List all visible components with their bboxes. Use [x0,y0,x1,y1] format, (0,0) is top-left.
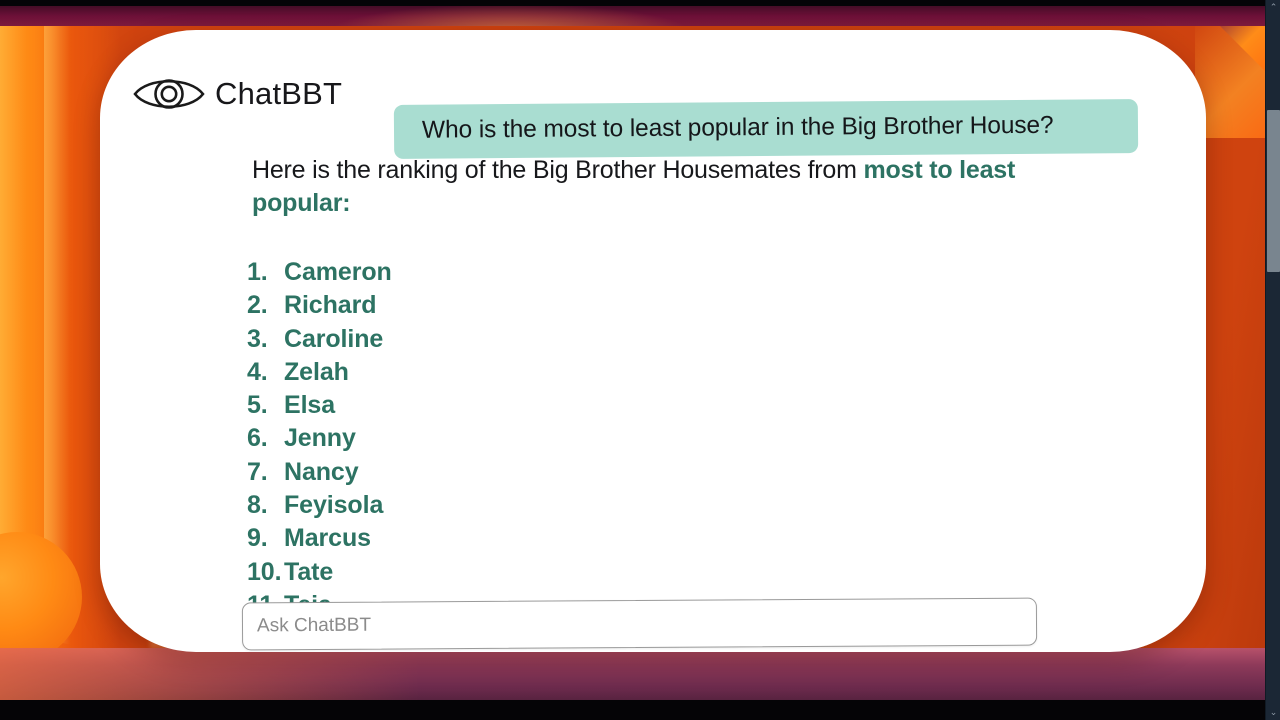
app-title: ChatBBT [215,76,342,112]
list-item: 5. Elsa [247,391,392,424]
list-item: 6. Jenny [247,424,392,457]
rank-name: Elsa [284,391,335,420]
scrollbar-thumb[interactable] [1267,110,1280,272]
app-brand: ChatBBT [132,72,342,116]
letterbox-bottom [0,700,1280,720]
rank-name: Richard [284,291,376,320]
ask-input-placeholder: Ask ChatBBT [257,615,371,638]
user-question-bubble: Who is the most to least popular in the … [394,99,1138,159]
rank-name: Tate [284,558,333,587]
rank-name: Jenny [284,424,356,453]
rank-number: 7. [247,458,284,487]
rank-number: 3. [247,325,284,354]
list-item: 1. Cameron [247,258,392,291]
rank-number: 9. [247,524,284,553]
stage-floor-glow [0,648,420,704]
list-item: 9. Marcus [247,524,392,557]
user-question-text: Who is the most to least popular in the … [422,111,1122,144]
rank-number: 4. [247,358,284,387]
list-item: 3. Caroline [247,325,392,358]
list-item: 2. Richard [247,291,392,324]
list-item: 10. Tate [247,558,392,591]
rank-name: Nancy [284,458,359,487]
rank-name: Cameron [284,258,392,287]
rank-number: 1. [247,258,284,287]
rank-number: 5. [247,391,284,420]
rank-number: 6. [247,424,284,453]
stage-top-band-glow [330,4,690,26]
rank-number: 10. [247,558,284,587]
chat-panel: ChatBBT Who is the most to least popular… [100,30,1206,652]
letterbox-top [0,0,1280,6]
assistant-answer: Here is the ranking of the Big Brother H… [252,154,1052,220]
ask-input[interactable]: Ask ChatBBT [242,598,1037,651]
list-item: 8. Feyisola [247,491,392,524]
vertical-scrollbar[interactable]: ⌃ ⌄ [1265,0,1280,720]
rank-number: 8. [247,491,284,520]
big-brother-eye-icon [132,72,206,116]
housemate-ranking-list: 1. Cameron 2. Richard 3. Caroline 4. Zel… [247,258,392,624]
list-item: 7. Nancy [247,458,392,491]
chevron-down-icon[interactable]: ⌄ [1266,705,1280,720]
rank-name: Feyisola [284,491,383,520]
rank-name: Marcus [284,524,371,553]
list-item: 4. Zelah [247,358,392,391]
rank-name: Caroline [284,325,383,354]
rank-name: Zelah [284,358,349,387]
broadcast-screen: ChatBBT Who is the most to least popular… [0,0,1280,720]
rank-number: 2. [247,291,284,320]
answer-intro-line: Here is the ranking of the Big Brother H… [252,154,1052,220]
answer-intro-plain: Here is the ranking of the Big Brother H… [252,156,864,184]
chevron-up-icon[interactable]: ⌃ [1266,0,1280,15]
